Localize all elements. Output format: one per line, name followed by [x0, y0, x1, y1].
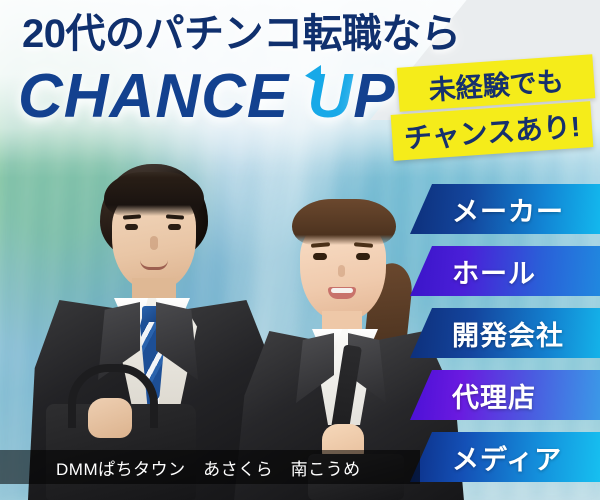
woman-fringe	[292, 199, 396, 245]
page-title: 20代のパチンコ転職なら	[22, 14, 461, 54]
category-button-agency[interactable]: 代理店	[410, 370, 600, 420]
people-photo	[0, 150, 470, 500]
caption-bar: DMMぱちタウン あさくら 南こうめ	[0, 450, 420, 484]
category-button-media[interactable]: メディア	[410, 432, 600, 482]
category-label-hall: ホール	[452, 252, 536, 291]
category-label-media: メディア	[452, 438, 562, 477]
category-label-development-company: 開発会社	[452, 314, 564, 353]
badge-no-experience-label: 未経験でも	[427, 59, 564, 107]
woman-eye-left	[313, 253, 327, 260]
category-button-maker[interactable]: メーカー	[410, 184, 600, 234]
man-eye-left	[125, 224, 138, 230]
category-button-development-company[interactable]: 開発会社	[410, 308, 600, 358]
chance-up-logo: CHANCE UP	[18, 66, 396, 128]
category-button-hall[interactable]: ホール	[410, 246, 600, 296]
man-fringe	[104, 172, 204, 216]
woman-teeth	[331, 288, 353, 293]
badge-chance-available-label: チャンスあり!	[403, 105, 582, 157]
recruitment-banner: 20代のパチンコ転職なら CHANCE UP 未経験でも チャンスあり! メーカ…	[0, 0, 600, 500]
man-nose	[150, 236, 158, 250]
man-hand	[88, 398, 132, 438]
woman-eye-right	[356, 253, 370, 260]
logo-chance-text: CHANCE	[18, 62, 307, 131]
category-label-maker: メーカー	[452, 190, 564, 229]
logo-p-letter: P	[353, 62, 395, 131]
caption-text: DMMぱちタウン あさくら 南こうめ	[56, 455, 361, 480]
category-label-agency: 代理店	[452, 376, 536, 415]
woman-nose	[338, 265, 345, 277]
man-eye-right	[168, 224, 181, 230]
